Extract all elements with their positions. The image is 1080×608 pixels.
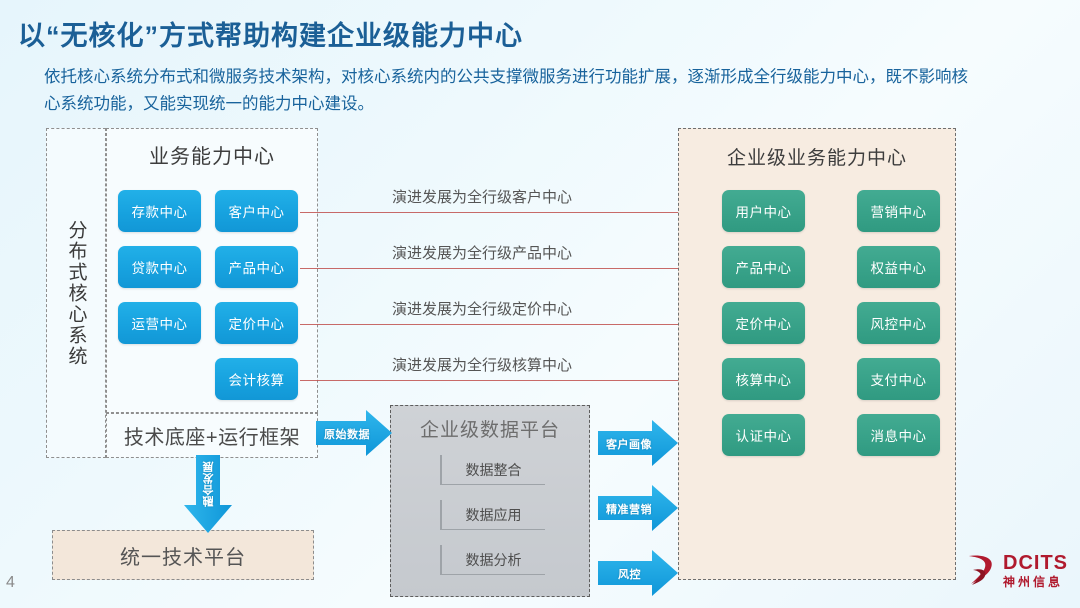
page-title: 以“无核化”方式帮助构建企业级能力中心 bbox=[18, 14, 523, 53]
connector-line-accounting bbox=[300, 380, 717, 381]
ent-box-message[interactable]: 消息中心 bbox=[857, 414, 940, 456]
company-logo: DCITS 神州信息 bbox=[965, 552, 1068, 588]
connector-label-pricing: 演进发展为全行级定价中心 bbox=[392, 298, 572, 319]
connector-line-customer bbox=[300, 212, 717, 213]
connector-label-product: 演进发展为全行级产品中心 bbox=[392, 242, 572, 263]
ent-box-marketing[interactable]: 营销中心 bbox=[857, 190, 940, 232]
connector-label-accounting: 演进发展为全行级核算中心 bbox=[392, 354, 572, 375]
data-platform-item-analysis[interactable]: 数据分析 bbox=[440, 545, 545, 575]
slide-canvas: 以“无核化”方式帮助构建企业级能力中心 依托核心系统分布式和微服务技术架构，对核… bbox=[0, 0, 1080, 608]
arrow-integration: 融合发展 bbox=[182, 455, 234, 533]
ent-box-rights[interactable]: 权益中心 bbox=[857, 246, 940, 288]
dcits-logo-mark bbox=[965, 552, 999, 588]
data-platform-item-application[interactable]: 数据应用 bbox=[440, 500, 545, 530]
capability-box-product[interactable]: 产品中心 bbox=[215, 246, 298, 288]
capability-box-operation[interactable]: 运营中心 bbox=[118, 302, 201, 344]
logo-cn-text: 神州信息 bbox=[1003, 576, 1068, 588]
arrow-precision-marketing: 精准营销 bbox=[598, 483, 678, 533]
page-number: 4 bbox=[6, 574, 15, 592]
page-subtitle: 依托核心系统分布式和微服务技术架构，对核心系统内的公共支撑微服务进行功能扩展，逐… bbox=[44, 64, 984, 118]
connector-label-customer: 演进发展为全行级客户中心 bbox=[392, 186, 572, 207]
core-system-label: 分布式核心系统 bbox=[46, 128, 106, 458]
ent-box-payment[interactable]: 支付中心 bbox=[857, 358, 940, 400]
arrow-integration-label: 融合发展 bbox=[201, 461, 217, 507]
tech-base-label: 技术底座+运行框架 bbox=[106, 413, 318, 458]
ent-box-pricing[interactable]: 定价中心 bbox=[722, 302, 805, 344]
ent-box-user[interactable]: 用户中心 bbox=[722, 190, 805, 232]
ent-box-product[interactable]: 产品中心 bbox=[722, 246, 805, 288]
capability-box-deposit[interactable]: 存款中心 bbox=[118, 190, 201, 232]
capability-box-accounting[interactable]: 会计核算 bbox=[215, 358, 298, 400]
business-capability-title: 业务能力中心 bbox=[106, 140, 318, 169]
data-platform-item-integration[interactable]: 数据整合 bbox=[440, 455, 545, 485]
arrow-risk-control: 风控 bbox=[598, 548, 678, 598]
ent-box-riskctrl[interactable]: 风控中心 bbox=[857, 302, 940, 344]
capability-box-pricing[interactable]: 定价中心 bbox=[215, 302, 298, 344]
capability-box-customer[interactable]: 客户中心 bbox=[215, 190, 298, 232]
arrow-raw-data-label: 原始数据 bbox=[324, 426, 370, 442]
connector-line-pricing bbox=[300, 324, 717, 325]
arrow-raw-data: 原始数据 bbox=[316, 408, 392, 458]
data-platform-title: 企业级数据平台 bbox=[390, 415, 590, 442]
ent-box-accounting[interactable]: 核算中心 bbox=[722, 358, 805, 400]
connector-line-product bbox=[300, 268, 717, 269]
ent-box-auth[interactable]: 认证中心 bbox=[722, 414, 805, 456]
logo-en-text: DCITS bbox=[1003, 553, 1068, 573]
arrow-risk-control-label: 风控 bbox=[618, 566, 641, 582]
capability-box-loan[interactable]: 贷款中心 bbox=[118, 246, 201, 288]
logo-text-group: DCITS 神州信息 bbox=[1003, 553, 1068, 588]
arrow-customer-profile-label: 客户画像 bbox=[606, 436, 652, 452]
unified-tech-platform-box[interactable]: 统一技术平台 bbox=[52, 530, 314, 580]
arrow-precision-marketing-label: 精准营销 bbox=[606, 501, 652, 517]
enterprise-capability-title: 企业级业务能力中心 bbox=[678, 143, 956, 170]
arrow-customer-profile: 客户画像 bbox=[598, 418, 678, 468]
